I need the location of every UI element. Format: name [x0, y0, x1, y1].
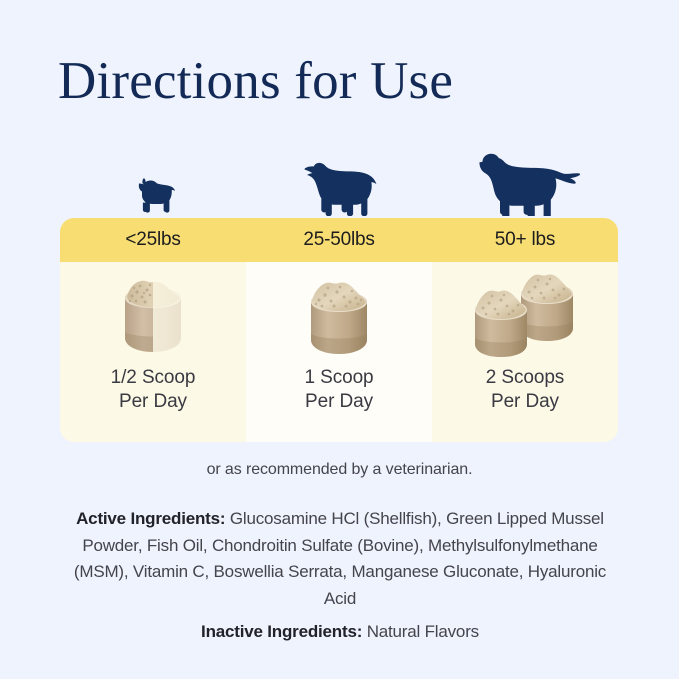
dog-cell-medium — [246, 140, 432, 218]
inactive-ingredients: Inactive Ingredients: Natural Flavors — [70, 622, 610, 642]
dose-label-large: 2 Scoops Per Day — [486, 366, 564, 415]
dose-amount-large: 2 Scoops — [486, 366, 564, 390]
large-dog-silhouette-icon — [469, 148, 581, 216]
active-ingredients: Active Ingredients: Glucosamine HCl (She… — [70, 506, 610, 612]
dosage-cell-medium: 1 Scoop Per Day — [246, 262, 432, 442]
dosage-table-body: 1/2 Scoop Per Day — [60, 262, 618, 442]
dose-amount-medium: 1 Scoop — [304, 366, 373, 390]
dosage-cell-large: 2 Scoops Per Day — [432, 262, 618, 442]
weight-header-large: 50+ lbs — [432, 218, 618, 262]
dog-cell-large — [432, 140, 618, 218]
active-ingredients-label: Active Ingredients: — [76, 509, 225, 528]
dose-amount-small: 1/2 Scoop — [111, 366, 196, 390]
dose-frequency-large: Per Day — [486, 390, 564, 414]
dose-frequency-medium: Per Day — [304, 390, 373, 414]
dose-label-small: 1/2 Scoop Per Day — [111, 366, 196, 415]
dog-cell-small — [60, 140, 246, 218]
dose-label-medium: 1 Scoop Per Day — [304, 366, 373, 415]
inactive-ingredients-label: Inactive Ingredients: — [201, 622, 362, 641]
weight-header-small: <25lbs — [60, 218, 246, 262]
inactive-ingredients-value: Natural Flavors — [362, 622, 479, 641]
veterinarian-note: or as recommended by a veterinarian. — [0, 461, 679, 479]
one-scoop-icon — [303, 262, 375, 366]
dose-frequency-small: Per Day — [111, 390, 196, 414]
dosage-table-header: <25lbs 25-50lbs 50+ lbs — [60, 218, 618, 262]
small-dog-silhouette-icon — [124, 174, 182, 216]
weight-header-medium: 25-50lbs — [246, 218, 432, 262]
dosage-cell-small: 1/2 Scoop Per Day — [60, 262, 246, 442]
half-scoop-icon — [115, 262, 191, 366]
page-title: Directions for Use — [58, 52, 453, 111]
dog-size-illustrations — [60, 140, 618, 218]
two-scoops-icon — [469, 262, 581, 366]
dosage-table: <25lbs 25-50lbs 50+ lbs — [60, 218, 618, 442]
medium-dog-silhouette-icon — [296, 158, 382, 216]
